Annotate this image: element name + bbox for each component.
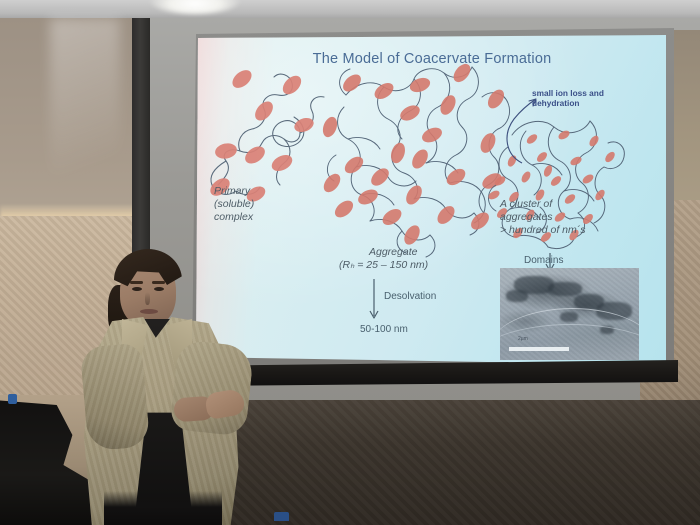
arm-right	[170, 339, 255, 436]
label-desolvation: Desolvation	[384, 290, 436, 303]
eyebrow-left	[130, 281, 143, 284]
desolvation-arrow	[370, 279, 378, 318]
eyebrow-right	[152, 281, 165, 284]
scale-bar-label: 2µm	[518, 336, 528, 342]
label-small-ion-loss: small ion loss and dehydration	[532, 88, 604, 108]
skirt	[104, 491, 222, 525]
scale-bar	[509, 347, 569, 351]
micrograph-feature	[506, 290, 528, 302]
presentation-photo: The Model of Coacervate Formation	[0, 0, 700, 525]
label-size-range: 50-100 nm	[360, 323, 408, 336]
micrograph-feature	[548, 282, 582, 296]
tem-micrograph: 2µm	[500, 268, 639, 360]
nose	[145, 292, 150, 305]
blue-object-on-podium	[8, 394, 17, 404]
label-aggregate: Aggregate	[369, 246, 417, 259]
micrograph-arc	[500, 324, 639, 360]
presenter	[78, 245, 268, 525]
aggregate-drawing	[320, 61, 509, 257]
label-cluster-of-aggregates: A cluster of aggregates > hundred of nm´…	[500, 198, 586, 237]
blue-object-foreground	[274, 512, 289, 521]
label-primary-complex: Primary (soluble) complex	[214, 185, 254, 224]
label-domains: Domains	[524, 254, 563, 267]
eye-left	[132, 287, 142, 291]
primary-complex-drawing	[207, 67, 324, 205]
arm-left	[80, 342, 151, 451]
wall-light-reflection	[50, 18, 120, 228]
mouth	[140, 309, 158, 314]
eye-right	[154, 287, 164, 291]
label-aggregate-size: (Rₕ = 25 – 150 nm)	[339, 259, 428, 272]
